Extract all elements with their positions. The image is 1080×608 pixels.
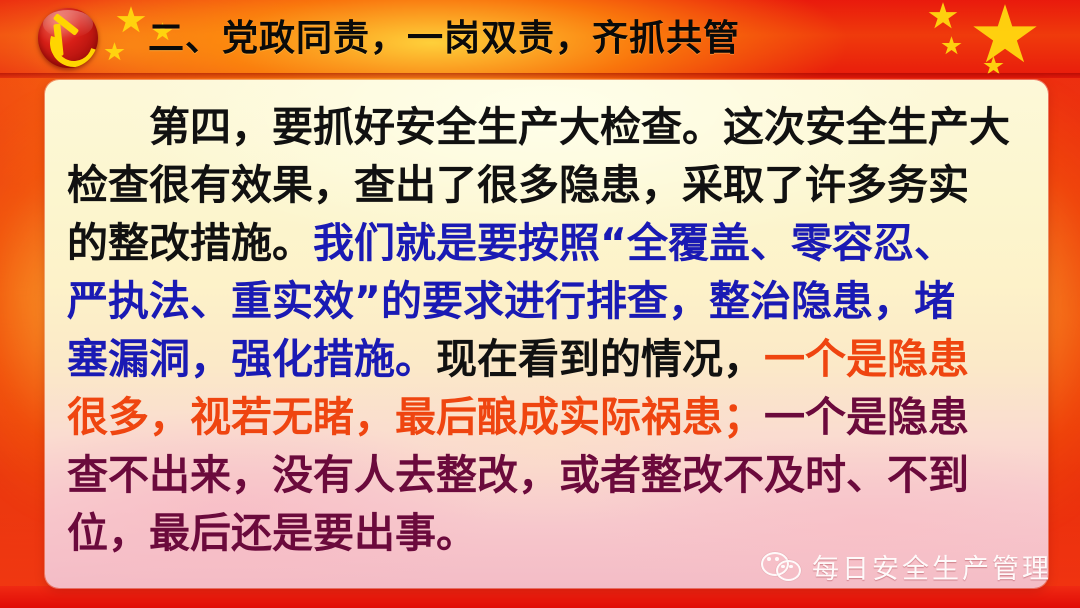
wechat-icon <box>761 550 803 584</box>
star-icon <box>104 42 125 62</box>
body-text-run: 塞漏洞，强化措施。 <box>67 335 436 383</box>
body-text: 第四，要抓好安全生产大检查。这次安全生产大检查很有效果，查出了很多隐患，采取了许… <box>67 98 1030 562</box>
body-text-run: 第四，要抓好安全生产大检查。这次安全生产大 <box>67 103 1010 151</box>
party-emblem-icon <box>38 8 98 68</box>
body-text-line: 第四，要抓好安全生产大检查。这次安全生产大 <box>67 98 1030 156</box>
body-text-line: 的整改措施。我们就是要按照“全覆盖、零容忍、 <box>67 214 1030 272</box>
content-panel: 第四，要抓好安全生产大检查。这次安全生产大检查很有效果，查出了很多隐患，采取了许… <box>45 80 1048 588</box>
body-text-run: 一个是隐患 <box>764 393 969 441</box>
body-text-run: 位，最后还是要出事。 <box>67 509 477 557</box>
body-text-line: 检查很有效果，查出了很多隐患，采取了许多务实 <box>67 156 1030 214</box>
wechat-dot <box>789 565 793 569</box>
star-icon <box>116 6 146 35</box>
body-text-run: 现在看到的情况， <box>436 335 764 383</box>
star-icon <box>983 56 1004 76</box>
slide-canvas: 二、党政同责，一岗双责，齐抓共管 第四，要抓好安全生产大检查。这次安全生产大检查… <box>0 0 1080 608</box>
header-band: 二、党政同责，一岗双责，齐抓共管 <box>0 0 1080 78</box>
wechat-dot <box>781 565 785 569</box>
star-icon <box>972 4 1038 68</box>
body-text-run: 很多，视若无睹，最后酿成实际祸患； <box>67 393 764 441</box>
wechat-bubble-small <box>776 560 801 581</box>
body-text-run: 我们就是要按照“全覆盖、零容忍、 <box>313 219 955 267</box>
body-text-run: 检查很有效果，查出了很多隐患，采取了许多务实 <box>67 161 969 209</box>
body-text-line: 严执法、重实效”的要求进行排查，整治隐患，堵 <box>67 272 1030 330</box>
body-text-run: 一个是隐患 <box>764 335 969 383</box>
body-text-run: 查不出来，没有人去整改，或者整改不及时、不到 <box>67 451 969 499</box>
body-text-line: 很多，视若无睹，最后酿成实际祸患；一个是隐患 <box>67 388 1030 446</box>
body-text-run: 严执法、重实效”的要求进行排查，整治隐患，堵 <box>67 277 955 325</box>
watermark: 每日安全生产管理 <box>761 547 1052 586</box>
page-title: 二、党政同责，一岗双责，齐抓共管 <box>148 17 740 61</box>
background-bottom-bar <box>0 586 1080 608</box>
body-text-run: 的整改措施。 <box>67 219 313 267</box>
watermark-label: 每日安全生产管理 <box>812 547 1052 586</box>
star-icon <box>928 2 958 31</box>
star-icon <box>941 36 962 56</box>
body-text-line: 查不出来，没有人去整改，或者整改不及时、不到 <box>67 446 1030 504</box>
body-text-line: 塞漏洞，强化措施。现在看到的情况，一个是隐患 <box>67 330 1030 388</box>
wechat-dot <box>767 557 771 561</box>
sickle-shape <box>42 11 98 68</box>
wechat-dot <box>775 557 779 561</box>
